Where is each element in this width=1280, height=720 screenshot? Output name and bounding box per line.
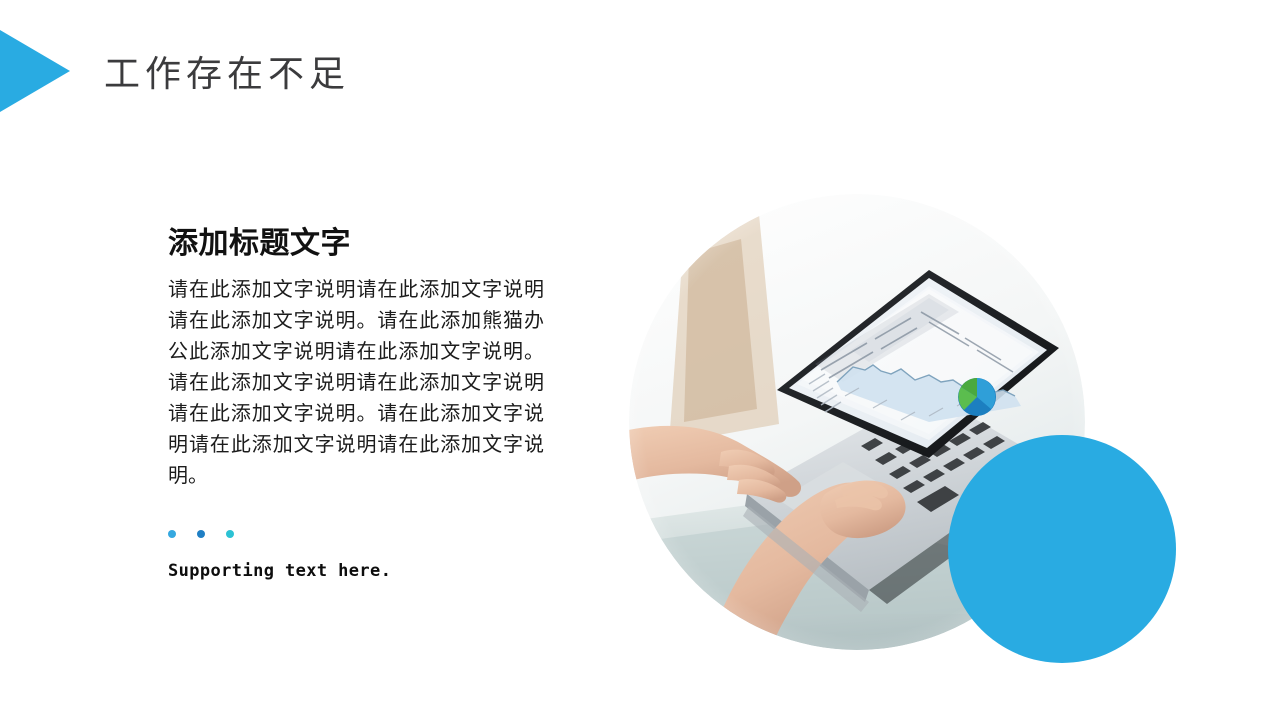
triangle-right-icon <box>0 30 70 112</box>
accent-circle <box>948 435 1176 663</box>
page-title: 工作存在不足 <box>104 52 350 95</box>
supporting-text: Supporting text here. <box>168 561 391 581</box>
dot-3-icon <box>226 530 234 538</box>
dot-separator <box>168 530 234 538</box>
dot-1-icon <box>168 530 176 538</box>
slide-canvas: 工作存在不足 添加标题文字 请在此添加文字说明请在此添加文字说明请在此添加文字说… <box>0 0 1280 720</box>
content-heading: 添加标题文字 <box>168 226 544 261</box>
content-paragraph: 请在此添加文字说明请在此添加文字说明请在此添加文字说明。请在此添加熊猫办公此添加… <box>168 275 544 492</box>
content-text-block: 添加标题文字 请在此添加文字说明请在此添加文字说明请在此添加文字说明。请在此添加… <box>168 226 544 492</box>
dot-2-icon <box>197 530 205 538</box>
